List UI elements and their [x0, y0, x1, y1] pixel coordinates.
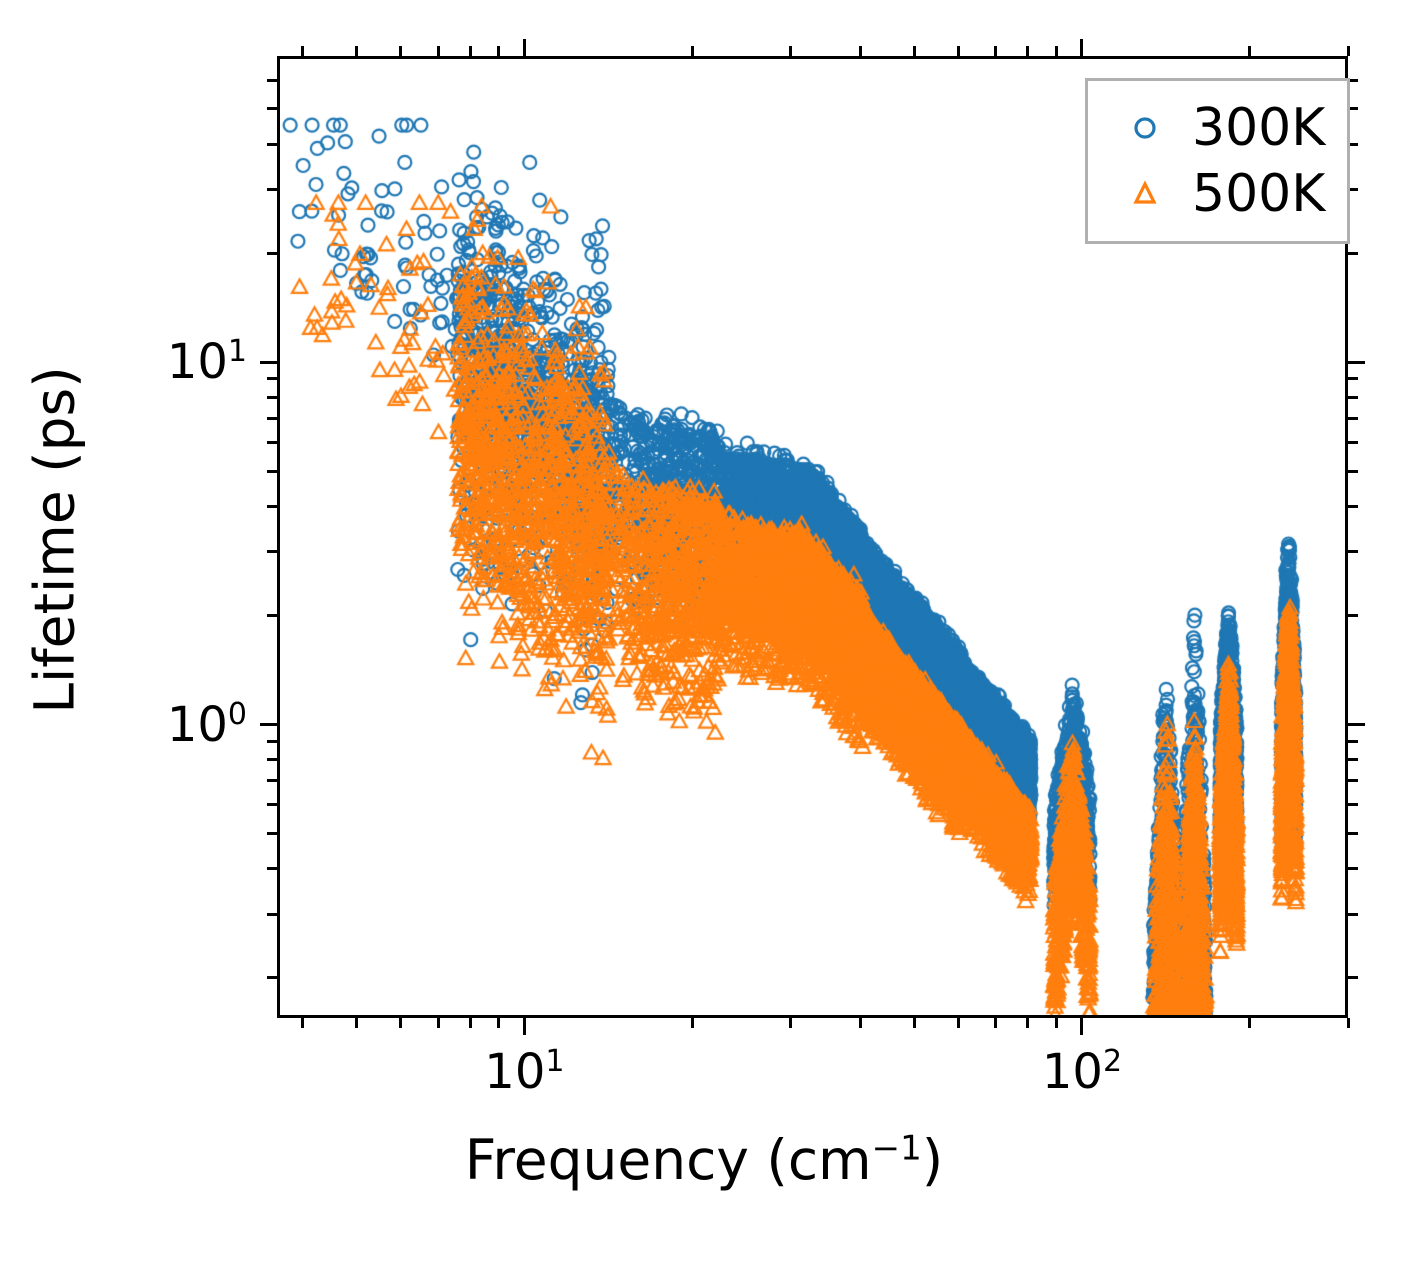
- x-tick-minor: [789, 1018, 792, 1028]
- x-axis-title-exponent: −1: [872, 1129, 922, 1169]
- x-tick-label: 101: [484, 1048, 564, 1096]
- y-tick-minor: [267, 470, 277, 473]
- x-tick-minor-top: [1026, 46, 1029, 56]
- x-tick-minor: [913, 1018, 916, 1028]
- x-tick-minor: [301, 1018, 304, 1028]
- x-tick-minor-top: [469, 46, 472, 56]
- y-axis-title: Lifetime (ps): [23, 366, 87, 713]
- y-tick-minor-right: [1348, 867, 1358, 870]
- y-tick-minor: [267, 832, 277, 835]
- y-tick-major-right: [1348, 361, 1365, 364]
- x-tick-minor-top: [497, 46, 500, 56]
- legend-triangle-marker-icon: [1106, 177, 1184, 211]
- y-tick-label: 101: [0, 338, 247, 386]
- x-tick-minor-top: [1347, 46, 1350, 56]
- x-tick-major: [523, 1018, 526, 1035]
- x-tick-minor: [859, 1018, 862, 1028]
- x-tick-minor-top: [355, 46, 358, 56]
- x-tick-minor-top: [994, 46, 997, 56]
- y-tick-minor-right: [1348, 252, 1358, 255]
- y-tick-minor-right: [1348, 913, 1358, 916]
- x-tick-minor: [1248, 1018, 1251, 1028]
- x-tick-major-top: [523, 39, 526, 56]
- y-tick-minor-right: [1348, 441, 1358, 444]
- y-tick-minor: [267, 614, 277, 617]
- x-tick-minor-top: [1055, 46, 1058, 56]
- y-tick-minor: [267, 396, 277, 399]
- x-tick-minor-top: [1248, 46, 1251, 56]
- y-tick-minor: [267, 550, 277, 553]
- x-tick-minor: [1347, 1018, 1350, 1028]
- x-tick-major: [1080, 1018, 1083, 1035]
- legend-label-500K: 500K: [1184, 168, 1325, 220]
- y-tick-minor: [267, 758, 277, 761]
- x-tick-minor-top: [957, 46, 960, 56]
- y-tick-minor-right: [1348, 417, 1358, 420]
- y-tick-minor: [267, 79, 277, 82]
- y-tick-minor-right: [1348, 803, 1358, 806]
- x-tick-minor-top: [399, 46, 402, 56]
- y-tick-minor-right: [1348, 614, 1358, 617]
- y-tick-minor-right: [1348, 550, 1358, 553]
- y-tick-minor-right: [1348, 832, 1358, 835]
- y-axis-title-container: Lifetime (ps): [0, 0, 110, 1080]
- x-tick-label: 102: [1042, 1048, 1122, 1096]
- x-tick-minor: [994, 1018, 997, 1028]
- x-tick-minor: [469, 1018, 472, 1028]
- legend[interactable]: 300K 500K: [1085, 78, 1350, 244]
- y-tick-major: [260, 723, 277, 726]
- y-tick-minor-right: [1348, 740, 1358, 743]
- y-tick-minor-right: [1348, 779, 1358, 782]
- x-tick-minor: [691, 1018, 694, 1028]
- y-tick-minor: [267, 505, 277, 508]
- x-tick-major-top: [1080, 39, 1083, 56]
- y-tick-minor: [267, 188, 277, 191]
- x-tick-minor-top: [437, 46, 440, 56]
- x-axis-title-tail: ): [922, 1128, 943, 1192]
- x-tick-minor: [497, 1018, 500, 1028]
- y-tick-minor-right: [1348, 976, 1358, 979]
- x-tick-minor-top: [913, 46, 916, 56]
- y-tick-minor: [267, 913, 277, 916]
- x-tick-minor: [1026, 1018, 1029, 1028]
- y-tick-minor: [267, 740, 277, 743]
- x-tick-minor: [437, 1018, 440, 1028]
- x-axis-title: Frequency (cm−1): [0, 1128, 1408, 1192]
- y-tick-minor: [267, 107, 277, 110]
- x-tick-minor-top: [691, 46, 694, 56]
- x-tick-minor: [355, 1018, 358, 1028]
- x-axis-title-main: Frequency (cm: [465, 1128, 872, 1192]
- x-tick-minor-top: [859, 46, 862, 56]
- x-tick-minor: [399, 1018, 402, 1028]
- y-tick-major: [260, 361, 277, 364]
- y-tick-minor: [267, 976, 277, 979]
- y-tick-label: 100: [0, 701, 247, 749]
- y-tick-minor: [267, 803, 277, 806]
- x-tick-minor: [1055, 1018, 1058, 1028]
- y-tick-minor: [267, 867, 277, 870]
- y-tick-minor: [267, 441, 277, 444]
- y-tick-minor: [267, 252, 277, 255]
- y-tick-minor: [267, 143, 277, 146]
- x-tick-minor: [957, 1018, 960, 1028]
- legend-entry-500K[interactable]: 500K: [1106, 161, 1325, 227]
- y-tick-minor-right: [1348, 377, 1358, 380]
- y-tick-minor-right: [1348, 470, 1358, 473]
- y-tick-minor-right: [1348, 396, 1358, 399]
- phonon-lifetime-figure: Lifetime (ps) Frequency (cm−1) 101102101…: [0, 0, 1408, 1265]
- legend-label-300K: 300K: [1184, 102, 1325, 154]
- y-tick-minor: [267, 779, 277, 782]
- y-tick-minor-right: [1348, 758, 1358, 761]
- y-tick-minor: [267, 377, 277, 380]
- legend-circle-marker-icon: [1106, 111, 1184, 145]
- y-tick-major-right: [1348, 723, 1365, 726]
- x-tick-minor-top: [301, 46, 304, 56]
- y-tick-minor-right: [1348, 505, 1358, 508]
- y-tick-minor: [267, 417, 277, 420]
- legend-entry-300K[interactable]: 300K: [1106, 95, 1325, 161]
- x-tick-minor-top: [789, 46, 792, 56]
